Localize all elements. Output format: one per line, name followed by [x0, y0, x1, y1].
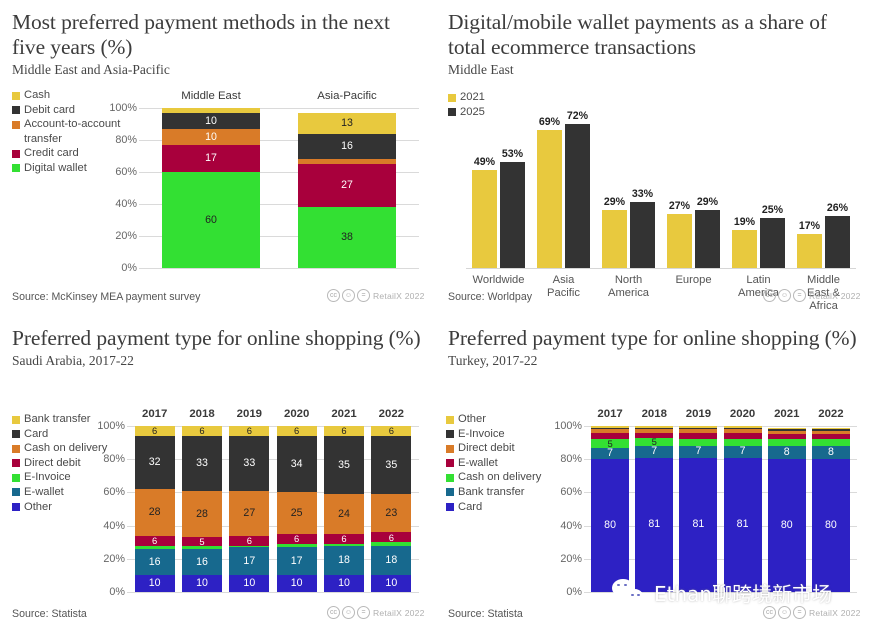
legend-label: Cash: [24, 88, 50, 103]
bar-segment[interactable]: [724, 428, 762, 430]
bar-segment[interactable]: [324, 544, 364, 546]
bar-segment[interactable]: 6: [324, 534, 364, 544]
bar-segment[interactable]: [812, 428, 850, 430]
bar[interactable]: [630, 202, 655, 268]
bar-segment[interactable]: 28: [135, 489, 175, 535]
bar-segment[interactable]: 18: [324, 546, 364, 576]
source-label: Source: Worldpay: [448, 291, 532, 303]
bar-segment[interactable]: 6: [324, 426, 364, 436]
legend-item[interactable]: Cash: [12, 88, 124, 103]
nd-icon: =: [357, 289, 370, 302]
bar-value-label: 24: [338, 509, 350, 520]
bar-segment[interactable]: 6: [277, 426, 317, 436]
stacked-bar[interactable]: 8175: [635, 426, 673, 592]
bar-value-label: 33: [196, 458, 208, 469]
bar-segment[interactable]: [679, 428, 717, 430]
bar[interactable]: [537, 130, 562, 268]
stacked-bar[interactable]: 1017627336: [229, 426, 269, 592]
x-axis-line: [466, 268, 856, 269]
column-header: 2020: [284, 408, 309, 420]
legend-swatch-icon: [12, 106, 20, 114]
legend-label: Direct debit: [24, 456, 81, 471]
legend-label: Credit card: [24, 146, 79, 161]
y-axis-tick: 80%: [103, 453, 131, 465]
stacked-bar[interactable]: 817: [724, 426, 762, 592]
legend-label: Direct debit: [458, 441, 515, 456]
retailx-credit: cc ☺ = RetailX 2022: [763, 289, 861, 302]
bar[interactable]: [565, 124, 590, 268]
retailx-credit: cc ☺ = RetailX 2022: [327, 606, 425, 619]
bar-segment[interactable]: 24: [324, 494, 364, 534]
creative-commons-icons: cc ☺ =: [763, 606, 806, 619]
stacked-bar[interactable]: 808: [812, 426, 850, 592]
bar-value-label: 13: [341, 118, 353, 129]
bar[interactable]: [667, 214, 692, 268]
legend-label: Bank transfer: [458, 485, 525, 500]
chart-plot-area: 0%20%40%60%80%100%8075201781752018817201…: [588, 426, 853, 592]
y-axis-tick: 80%: [560, 453, 588, 465]
bar-segment[interactable]: [679, 429, 717, 432]
column-header: Middle East: [181, 90, 241, 102]
bar-value-label: 23: [385, 508, 397, 519]
bar-value-label: 80: [781, 520, 793, 531]
legend-item[interactable]: Card: [446, 500, 541, 515]
bar-segment[interactable]: 5: [591, 439, 629, 447]
bar-value-label: 17: [243, 556, 255, 567]
bar-segment[interactable]: 6: [229, 536, 269, 546]
bar-segment[interactable]: [812, 439, 850, 446]
bar-value-label: 6: [389, 426, 394, 435]
legend-swatch-icon: [446, 430, 454, 438]
legend-label: Digital wallet: [24, 161, 87, 176]
bar-segment[interactable]: 7: [679, 446, 717, 458]
bar-segment[interactable]: 8: [812, 446, 850, 459]
bar-value-label: 6: [341, 534, 346, 543]
bar-value-label: 28: [196, 509, 208, 520]
page-title: Most preferred payment methods in the ne…: [12, 10, 424, 60]
gridline: [127, 592, 419, 593]
bar-value-label: 18: [338, 555, 350, 566]
creative-commons-icons: cc ☺ =: [327, 606, 370, 619]
bar[interactable]: [500, 162, 525, 268]
column-header: 2018: [642, 408, 667, 420]
bar-value-label: 33: [243, 458, 255, 469]
bar[interactable]: [602, 210, 627, 268]
bar-segment[interactable]: 10: [182, 575, 222, 592]
retailx-credit: cc ☺ = RetailX 2022: [327, 289, 425, 302]
bar-segment[interactable]: 35: [324, 436, 364, 494]
column-header: 2019: [237, 408, 262, 420]
legend-label: E-Invoice: [24, 470, 71, 485]
credit-text: RetailX 2022: [809, 608, 861, 618]
legend-swatch-icon: [448, 94, 456, 102]
bar-segment[interactable]: 17: [162, 145, 260, 172]
column-header: 2022: [818, 408, 843, 420]
y-axis-tick: 60%: [103, 486, 131, 498]
stacked-bar[interactable]: 1016628326: [135, 426, 175, 592]
bar-segment[interactable]: 16: [298, 134, 396, 160]
legend-item[interactable]: Bank transfer: [446, 485, 541, 500]
bar-value-label: 16: [149, 557, 161, 568]
gridline: [139, 268, 419, 269]
bar-segment[interactable]: 27: [298, 164, 396, 207]
bar-segment[interactable]: 10: [229, 575, 269, 592]
bar-value-label: 38: [341, 232, 353, 243]
legend-label: E-Invoice: [458, 427, 505, 442]
bar-segment[interactable]: 5: [182, 537, 222, 545]
bar-segment[interactable]: [277, 544, 317, 547]
y-axis-tick: 40%: [103, 520, 131, 532]
bar-value-label: 8: [784, 447, 790, 458]
panel-digital-wallet-share: Digital/mobile wallet payments as a shar…: [436, 0, 871, 316]
bar-value-label: 10: [196, 578, 208, 589]
bar-value-label: 17: [291, 556, 303, 567]
bar-segment[interactable]: [724, 433, 762, 440]
legend-item[interactable]: Card: [12, 427, 107, 442]
column-header: 2018: [189, 408, 214, 420]
dashboard-grid: Most preferred payment methods in the ne…: [0, 0, 871, 632]
by-icon: ☺: [342, 606, 355, 619]
source-label: Source: McKinsey MEA payment survey: [12, 291, 200, 303]
bar-value-label: 6: [152, 426, 157, 435]
bar-value-label: 10: [243, 578, 255, 589]
bar-segment[interactable]: [724, 426, 762, 428]
bar-segment[interactable]: 32: [135, 436, 175, 489]
bar-segment[interactable]: [591, 433, 629, 440]
column-header: Asia-Pacific: [317, 90, 377, 102]
y-axis-tick: 100%: [109, 102, 143, 114]
y-axis-tick: 40%: [115, 198, 143, 210]
bar-segment[interactable]: 7: [635, 446, 673, 458]
bar-segment[interactable]: [162, 108, 260, 113]
chart-legend: CashDebit cardAccount-to-account transfe…: [12, 88, 124, 176]
bar-value-label: 28: [149, 507, 161, 518]
y-axis-tick: 20%: [115, 230, 143, 242]
legend-swatch-icon: [12, 459, 20, 467]
legend-label: Cash on delivery: [24, 441, 107, 456]
bar-segment[interactable]: 6: [371, 532, 411, 542]
bar-segment[interactable]: [298, 159, 396, 164]
legend-item[interactable]: Cash on delivery: [446, 470, 541, 485]
y-axis-tick: 100%: [554, 420, 588, 432]
bar-value-label: 60: [205, 215, 217, 226]
bar-segment[interactable]: 28: [182, 491, 222, 537]
bar-segment[interactable]: 7: [724, 446, 762, 458]
by-icon: ☺: [342, 289, 355, 302]
bar-segment[interactable]: 8: [768, 446, 806, 459]
bar-value-label: 10: [291, 578, 303, 589]
bar-value-label: 27%: [669, 200, 690, 212]
bar-segment[interactable]: [591, 429, 629, 432]
bar-value-label: 10: [205, 132, 217, 143]
column-header: 2017: [597, 408, 622, 420]
bar-segment[interactable]: 34: [277, 436, 317, 492]
bar-value-label: 29%: [604, 196, 625, 208]
bar-value-label: 6: [389, 533, 394, 542]
bar-segment[interactable]: 10: [324, 575, 364, 592]
bar-segment[interactable]: 6: [182, 426, 222, 436]
legend-item[interactable]: Credit card: [12, 146, 124, 161]
legend-swatch-icon: [12, 488, 20, 496]
chart-legend: Bank transferCardCash on deliveryDirect …: [12, 412, 107, 514]
legend-swatch-icon: [12, 474, 20, 482]
panel-saudi-payment-type: Preferred payment type for online shoppi…: [0, 316, 436, 632]
by-icon: ☺: [778, 289, 791, 302]
bar-segment[interactable]: [768, 428, 806, 430]
legend-swatch-icon: [12, 503, 20, 511]
bar-segment[interactable]: [679, 439, 717, 446]
bar-segment[interactable]: 10: [162, 113, 260, 129]
bar-value-label: 81: [648, 519, 660, 530]
bar[interactable]: [825, 216, 850, 268]
legend-item[interactable]: E-wallet: [446, 456, 541, 471]
bar-segment[interactable]: 10: [371, 575, 411, 592]
retailx-credit: cc ☺ = RetailX 2022: [763, 606, 861, 619]
legend-item[interactable]: Cash on delivery: [12, 441, 107, 456]
bar-value-label: 7: [695, 446, 701, 457]
cc-icon: cc: [327, 606, 340, 619]
bar-segment[interactable]: [635, 426, 673, 428]
legend-item[interactable]: Other: [12, 500, 107, 515]
bar-segment[interactable]: [812, 431, 850, 434]
nd-icon: =: [793, 606, 806, 619]
bar-segment[interactable]: [768, 434, 806, 439]
bar-value-label: 5: [199, 537, 204, 545]
bar-segment[interactable]: 10: [135, 575, 175, 592]
source-label: Source: Statista: [12, 608, 87, 620]
y-axis-tick: 60%: [115, 166, 143, 178]
legend-label: Cash on delivery: [458, 470, 541, 485]
bar-segment[interactable]: [679, 433, 717, 440]
column-header: 2020: [730, 408, 755, 420]
cc-icon: cc: [763, 606, 776, 619]
bar-value-label: 19%: [734, 216, 755, 228]
bar-segment[interactable]: [768, 429, 806, 431]
gridline: [584, 592, 857, 593]
column-header: 2022: [379, 408, 404, 420]
legend-item[interactable]: Other: [446, 412, 541, 427]
creative-commons-icons: cc ☺ =: [763, 289, 806, 302]
panel-turkey-payment-type: Preferred payment type for online shoppi…: [436, 316, 871, 632]
bar-value-label: 5: [652, 438, 657, 446]
bar-value-label: 35: [385, 460, 397, 471]
bar-value-label: 10: [205, 116, 217, 127]
legend-swatch-icon: [12, 92, 20, 100]
legend-label: E-wallet: [458, 456, 498, 471]
bar-segment[interactable]: 35: [371, 436, 411, 494]
column-header: 2019: [686, 408, 711, 420]
bar-value-label: 18: [385, 555, 397, 566]
stacked-bar[interactable]: 38271613: [298, 108, 396, 268]
x-axis-label: Worldwide: [472, 274, 524, 287]
bar-segment[interactable]: [768, 439, 806, 446]
y-axis-tick: 20%: [103, 553, 131, 565]
column-header: 2021: [774, 408, 799, 420]
bar-segment[interactable]: [679, 426, 717, 428]
legend-item[interactable]: 2021: [448, 90, 485, 105]
bar-value-label: 7: [607, 448, 613, 459]
legend-swatch-icon: [12, 150, 20, 158]
bar-segment[interactable]: [812, 434, 850, 439]
bar-segment[interactable]: [635, 433, 673, 438]
bar-segment[interactable]: 60: [162, 172, 260, 268]
bar-segment[interactable]: 80: [591, 459, 629, 592]
legend-label: Debit card: [24, 103, 75, 118]
bar-value-label: 26%: [827, 202, 848, 214]
bar-segment[interactable]: 38: [298, 207, 396, 268]
bar-segment[interactable]: 80: [768, 459, 806, 592]
bar-segment[interactable]: 6: [135, 536, 175, 546]
column-header: 2021: [331, 408, 356, 420]
bar-value-label: 8: [828, 447, 834, 458]
bar[interactable]: [732, 230, 757, 268]
bar-segment[interactable]: 17: [277, 547, 317, 575]
bar-segment[interactable]: [812, 429, 850, 431]
y-axis-tick: 20%: [560, 553, 588, 565]
panel-subtitle: Middle East: [448, 62, 859, 78]
stacked-bar[interactable]: 1018624356: [324, 426, 364, 592]
bar-value-label: 49%: [474, 156, 495, 168]
legend-item[interactable]: E-Invoice: [446, 427, 541, 442]
x-axis-label: Europe: [675, 274, 711, 287]
y-axis-tick: 60%: [560, 486, 588, 498]
bar-segment[interactable]: [371, 542, 411, 545]
page-title: Digital/mobile wallet payments as a shar…: [448, 10, 859, 60]
legend-swatch-icon: [12, 121, 20, 129]
bar-segment[interactable]: 17: [229, 547, 269, 575]
legend-item[interactable]: Direct debit: [12, 456, 107, 471]
legend-swatch-icon: [446, 488, 454, 496]
chart-plot-area: 49%53%Worldwide69%72%Asia Pacific29%33%N…: [466, 108, 856, 268]
bar-segment[interactable]: 13: [298, 113, 396, 134]
bar-value-label: 16: [196, 557, 208, 568]
bar-segment[interactable]: 5: [635, 438, 673, 446]
legend-label: E-wallet: [24, 485, 64, 500]
bar-value-label: 25: [291, 508, 303, 519]
legend-item[interactable]: Digital wallet: [12, 161, 124, 176]
bar-segment[interactable]: 81: [635, 458, 673, 592]
x-axis-label: Asia Pacific: [547, 274, 580, 300]
panel-subtitle: Saudi Arabia, 2017-22: [12, 353, 424, 369]
bar-segment[interactable]: [135, 546, 175, 549]
nd-icon: =: [357, 606, 370, 619]
bar-segment[interactable]: [768, 431, 806, 434]
panel-subtitle: Turkey, 2017-22: [448, 353, 859, 369]
legend-label: Other: [458, 412, 486, 427]
y-axis-tick: 40%: [560, 520, 588, 532]
bar-value-label: 7: [740, 446, 746, 457]
bar-segment[interactable]: [635, 428, 673, 430]
bar-value-label: 6: [341, 426, 346, 435]
stacked-bar[interactable]: 8075: [591, 426, 629, 592]
bar-segment[interactable]: 33: [229, 436, 269, 491]
bar-segment[interactable]: [724, 429, 762, 432]
legend-label: 2021: [460, 90, 485, 105]
legend-item[interactable]: Debit card: [12, 103, 124, 118]
bar-value-label: 35: [338, 460, 350, 471]
legend-swatch-icon: [12, 416, 20, 424]
stacked-bar[interactable]: 60171010: [162, 108, 260, 268]
legend-swatch-icon: [446, 445, 454, 453]
bar-segment[interactable]: 10: [162, 129, 260, 145]
bar-segment[interactable]: [724, 439, 762, 446]
bar-value-label: 53%: [502, 148, 523, 160]
chart-plot-area: 0%20%40%60%80%100%60171010Middle East382…: [143, 108, 415, 268]
bar-segment[interactable]: 6: [229, 426, 269, 436]
bar-segment[interactable]: 6: [277, 534, 317, 544]
stacked-bar[interactable]: 1018623356: [371, 426, 411, 592]
bar-segment[interactable]: 16: [135, 549, 175, 576]
legend-item[interactable]: Bank transfer: [12, 412, 107, 427]
bar-segment[interactable]: 6: [135, 426, 175, 436]
bar-segment[interactable]: 6: [371, 426, 411, 436]
bar-value-label: 6: [247, 536, 252, 545]
legend-swatch-icon: [446, 474, 454, 482]
bar-segment[interactable]: [635, 429, 673, 432]
bar-value-label: 5: [607, 439, 612, 447]
bar-segment[interactable]: 81: [724, 458, 762, 592]
chart-legend: OtherE-InvoiceDirect debitE-walletCash o…: [446, 412, 541, 514]
panel-preferred-payment-methods: Most preferred payment methods in the ne…: [0, 0, 436, 316]
bar-segment[interactable]: [591, 428, 629, 430]
bar-value-label: 10: [385, 578, 397, 589]
page-title: Preferred payment type for online shoppi…: [12, 326, 424, 351]
bar-value-label: 33%: [632, 188, 653, 200]
legend-label: Account-to-account transfer: [24, 117, 124, 146]
cc-icon: cc: [327, 289, 340, 302]
stacked-bar[interactable]: 817: [679, 426, 717, 592]
bar-segment[interactable]: [182, 546, 222, 549]
bar-segment[interactable]: 7: [591, 448, 629, 460]
legend-label: Card: [24, 427, 48, 442]
y-axis-tick: 100%: [97, 420, 131, 432]
legend-item[interactable]: E-Invoice: [12, 470, 107, 485]
bar-segment[interactable]: [229, 546, 269, 548]
bar-segment[interactable]: [591, 426, 629, 428]
bar[interactable]: [695, 210, 720, 268]
bar-value-label: 6: [294, 426, 299, 435]
bar[interactable]: [797, 234, 822, 268]
legend-swatch-icon: [446, 459, 454, 467]
legend-swatch-icon: [12, 164, 20, 172]
bar-segment[interactable]: 16: [182, 549, 222, 576]
bar[interactable]: [760, 218, 785, 268]
bar-segment[interactable]: 33: [182, 436, 222, 491]
bar-value-label: 10: [149, 578, 161, 589]
bar-segment[interactable]: 81: [679, 458, 717, 592]
legend-swatch-icon: [12, 445, 20, 453]
bar-segment[interactable]: 18: [371, 546, 411, 576]
stacked-bar[interactable]: 808: [768, 426, 806, 592]
bar-segment[interactable]: 23: [371, 494, 411, 532]
bar-segment[interactable]: 27: [229, 491, 269, 536]
bar[interactable]: [472, 170, 497, 268]
stacked-bar[interactable]: 1016528336: [182, 426, 222, 592]
legend-swatch-icon: [446, 503, 454, 511]
bar-value-label: 27: [243, 508, 255, 519]
bar-value-label: 69%: [539, 116, 560, 128]
bar-segment[interactable]: 80: [812, 459, 850, 592]
bar-segment[interactable]: 10: [277, 575, 317, 592]
legend-item[interactable]: Account-to-account transfer: [12, 117, 124, 146]
stacked-bar[interactable]: 1017625346: [277, 426, 317, 592]
bar-value-label: 80: [604, 520, 616, 531]
bar-segment[interactable]: 25: [277, 492, 317, 534]
bar-value-label: 72%: [567, 110, 588, 122]
chart-plot-area: 0%20%40%60%80%100%1016628326201710165283…: [131, 426, 415, 592]
legend-item[interactable]: E-wallet: [12, 485, 107, 500]
legend-item[interactable]: Direct debit: [446, 441, 541, 456]
